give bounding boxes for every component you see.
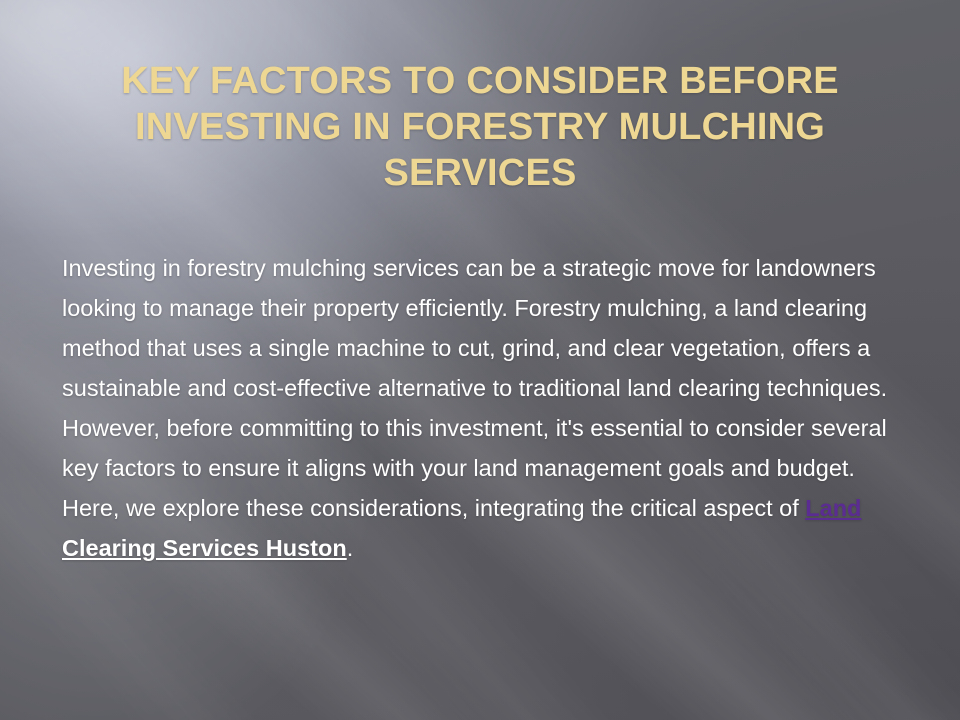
- slide-body-text: Investing in forestry mulching services …: [62, 248, 910, 568]
- presentation-slide: KEY FACTORS TO CONSIDER BEFORE INVESTING…: [0, 0, 960, 720]
- body-trailing-period: .: [347, 535, 354, 561]
- link-clearing-services-huston[interactable]: Clearing Services Huston: [62, 535, 347, 561]
- slide-content: KEY FACTORS TO CONSIDER BEFORE INVESTING…: [0, 0, 960, 720]
- slide-title: KEY FACTORS TO CONSIDER BEFORE INVESTING…: [46, 58, 914, 196]
- link-land[interactable]: Land: [805, 495, 861, 521]
- body-paragraph: Investing in forestry mulching services …: [62, 248, 910, 568]
- body-paragraph-text: Investing in forestry mulching services …: [62, 255, 887, 521]
